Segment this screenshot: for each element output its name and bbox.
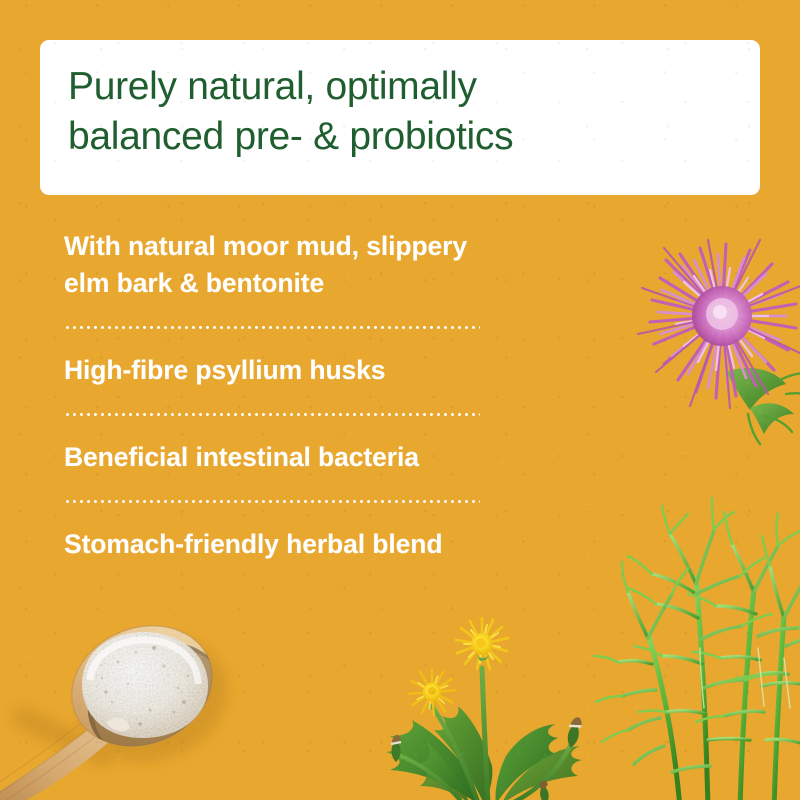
dotted-divider bbox=[64, 500, 480, 503]
dotted-divider bbox=[64, 413, 480, 416]
milk-thistle-flower-image bbox=[630, 238, 800, 448]
list-item: Beneficial intestinal bacteria bbox=[64, 439, 480, 503]
product-benefits-banner: Purely natural, optimally balanced pre- … bbox=[0, 0, 800, 800]
benefit-label: Stomach-friendly herbal blend bbox=[64, 526, 480, 563]
benefit-label: With natural moor mud, slippery elm bark… bbox=[64, 228, 480, 302]
fennel-herb-foliage-image bbox=[588, 408, 800, 800]
dandelion-plant-image bbox=[360, 596, 620, 800]
list-item: Stomach-friendly herbal blend bbox=[64, 526, 480, 563]
benefit-label: Beneficial intestinal bacteria bbox=[64, 439, 480, 476]
benefit-label: High-fibre psyllium husks bbox=[64, 352, 480, 389]
benefits-list: With natural moor mud, slippery elm bark… bbox=[64, 228, 480, 563]
list-item: With natural moor mud, slippery elm bark… bbox=[64, 228, 480, 329]
wooden-spoon-with-psyllium-husk-powder-image bbox=[0, 614, 258, 800]
dotted-divider bbox=[64, 326, 480, 329]
page-title: Purely natural, optimally balanced pre- … bbox=[68, 62, 740, 162]
list-item: High-fibre psyllium husks bbox=[64, 352, 480, 416]
headline-card: Purely natural, optimally balanced pre- … bbox=[40, 40, 760, 195]
